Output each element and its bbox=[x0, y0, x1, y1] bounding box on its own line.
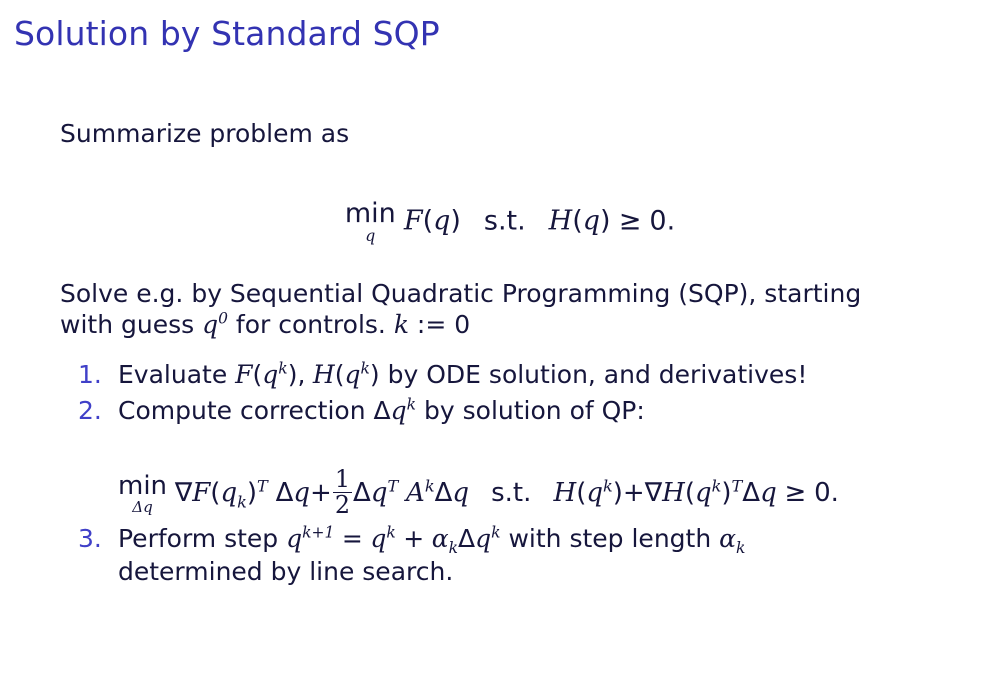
guess-var: q bbox=[202, 310, 218, 339]
hessian-A: A bbox=[406, 478, 425, 508]
relation-geq-1: ≥ bbox=[619, 205, 642, 236]
constraint-arg: q bbox=[583, 205, 600, 236]
solve-line-2-post: for controls. bbox=[228, 310, 394, 339]
transpose-1: T bbox=[257, 476, 268, 495]
plus-1: + bbox=[310, 478, 332, 508]
objective-arg: q bbox=[433, 205, 450, 236]
constraint-H: H bbox=[549, 205, 573, 236]
list-item: 1. Evaluate F(qk),H(qk) by ODE solution,… bbox=[60, 358, 960, 391]
step-2-math: Δqk bbox=[374, 396, 417, 425]
list-item: 3. Perform step qk+1=qk+αkΔqk with step … bbox=[60, 522, 960, 588]
min-operator-2: min Δq bbox=[118, 473, 167, 515]
step-2-post: by solution of QP: bbox=[416, 396, 645, 425]
step-number: 1. bbox=[78, 358, 102, 391]
qp-constraint-H: H bbox=[554, 478, 577, 508]
objective-F: F bbox=[404, 205, 423, 236]
st-label-1: s.t. bbox=[484, 205, 526, 236]
step-3-pre: Perform step bbox=[118, 524, 286, 553]
step-1-pre: Evaluate bbox=[118, 360, 235, 389]
step-1-math: F(qk),H(qk) bbox=[235, 360, 380, 389]
min-operator-1: min q bbox=[345, 200, 396, 244]
solve-paragraph: Solve e.g. by Sequential Quadratic Progr… bbox=[60, 278, 915, 340]
equation-min-F: min q F(q)s.t.H(q)≥0. bbox=[60, 200, 960, 244]
step-3-math: qk+1=qk+αkΔqk bbox=[286, 524, 500, 553]
relation-geq-2: ≥ bbox=[785, 478, 807, 508]
step-2-pre: Compute correction bbox=[118, 396, 374, 425]
page-title: Solution by Standard SQP bbox=[14, 14, 440, 54]
step-3-math-2: αk bbox=[719, 524, 745, 553]
rhs-zero-2: 0. bbox=[814, 478, 839, 508]
intro-text: Summarize problem as bbox=[60, 118, 960, 149]
qp-objective-F: F bbox=[192, 478, 210, 508]
solve-line-2-pre: with guess bbox=[60, 310, 202, 339]
step-number: 3. bbox=[78, 522, 102, 555]
step-3-line-2: determined by line search. bbox=[118, 557, 453, 586]
rhs-zero-1: 0. bbox=[649, 205, 675, 236]
gradient-icon: ∇ bbox=[175, 478, 192, 508]
list-item: 2. Compute correction Δqk by solution of… bbox=[60, 394, 960, 427]
solve-line-1: Solve e.g. by Sequential Quadratic Progr… bbox=[60, 279, 861, 308]
one-half-fraction: 12 bbox=[333, 467, 352, 518]
iter-assign: := 0 bbox=[409, 310, 470, 339]
step-1-post: by ODE solution, and derivatives! bbox=[380, 360, 808, 389]
iter-var-k: k bbox=[394, 310, 409, 339]
st-label-2: s.t. bbox=[491, 478, 531, 508]
step-3-post: with step length bbox=[501, 524, 720, 553]
guess-superscript: 0 bbox=[218, 310, 228, 328]
slide-root: Solution by Standard SQP Summarize probl… bbox=[0, 0, 981, 675]
equation-qp: min Δq ∇F(qk)TΔq+12ΔqTAkΔqs.t.H(qk)+∇H(q… bbox=[118, 468, 981, 519]
slide-body: Summarize problem as min q F(q)s.t.H(q)≥… bbox=[60, 118, 960, 149]
step-number: 2. bbox=[78, 394, 102, 427]
